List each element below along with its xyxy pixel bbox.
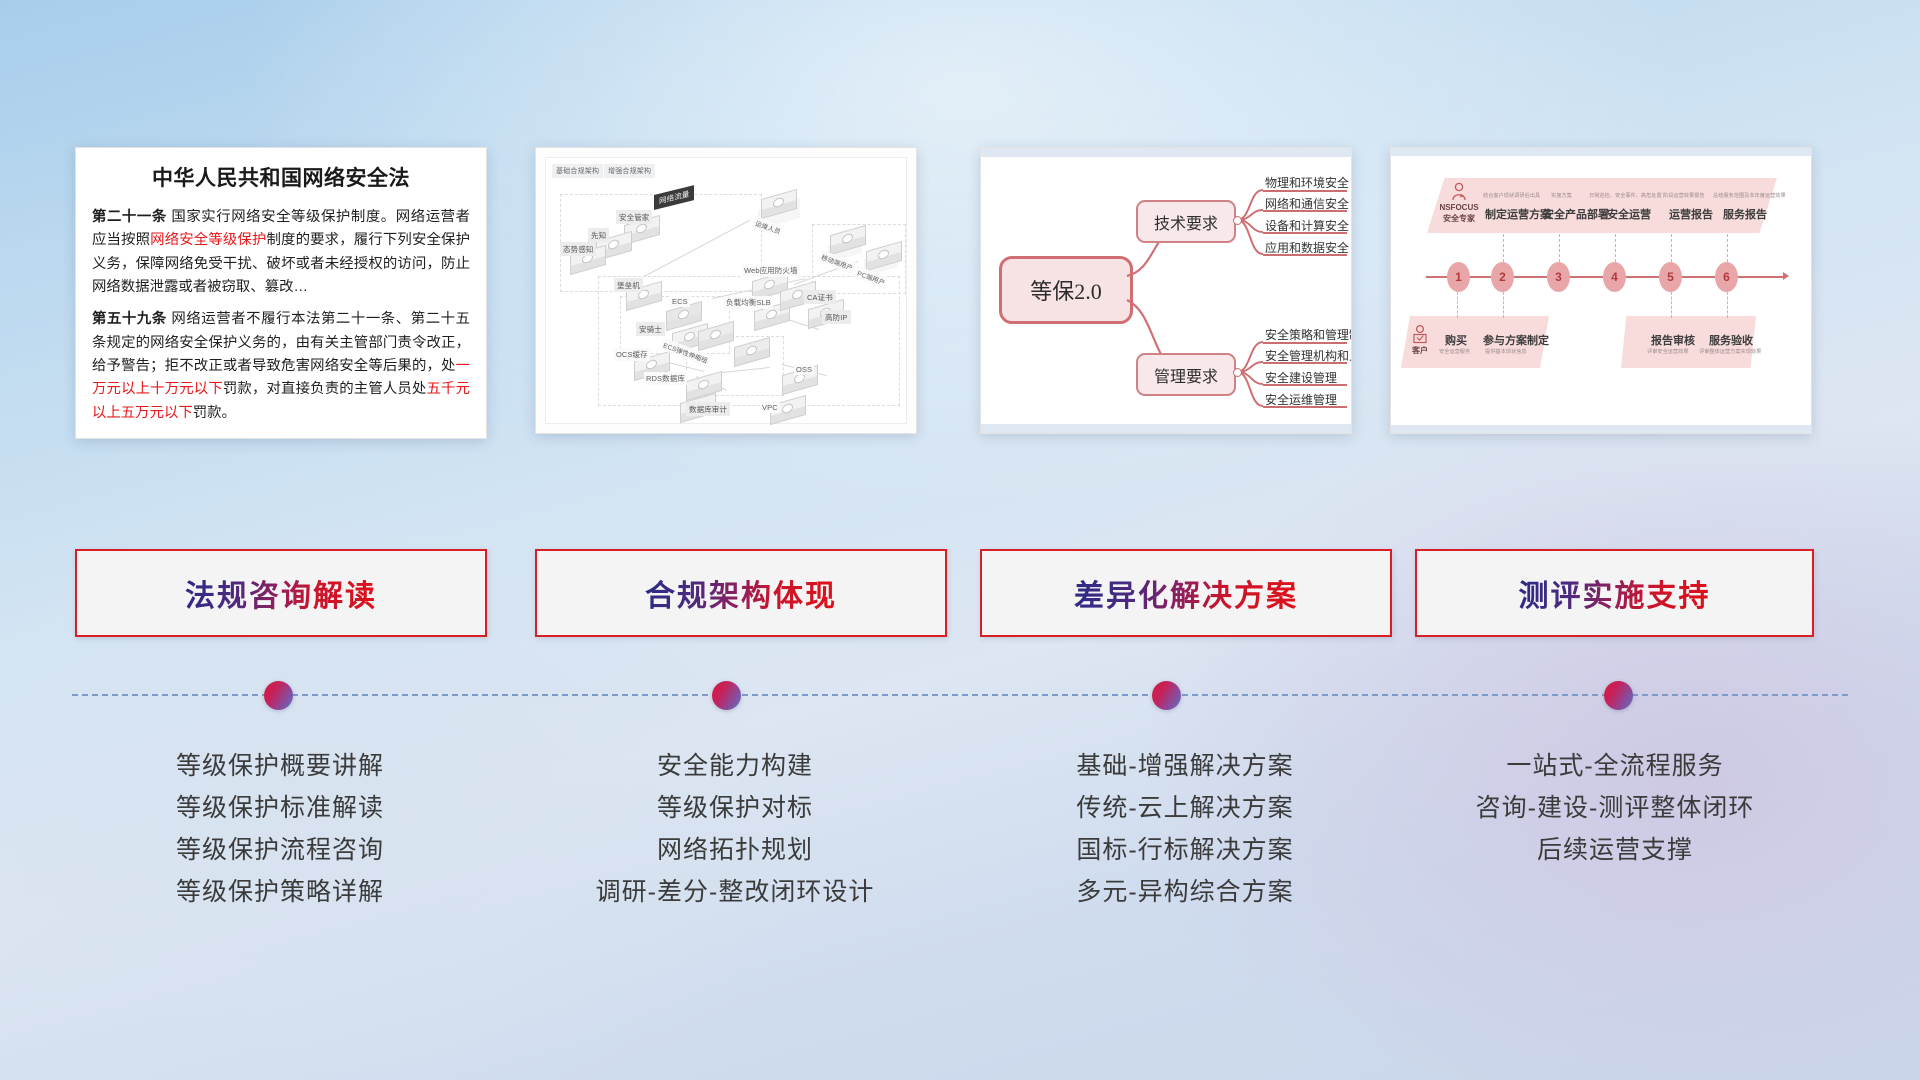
step-marker-5[interactable]: 5 [1659, 262, 1682, 292]
law-title: 中华人民共和国网络安全法 [92, 162, 470, 192]
article-59-tail: 罚款。 [193, 405, 236, 421]
label-waf: Web应用防火墙 [742, 264, 800, 277]
process-top-band [1391, 148, 1811, 156]
list-item: 多元-异构综合方案 [975, 871, 1395, 913]
bottom-step-1-title: 购买 [1445, 332, 1467, 348]
article-59-number: 第五十九条 [92, 311, 167, 327]
service-process-diagram: NSFOCUS 安全专家 客户 1 2 3 4 5 6 [1391, 148, 1811, 433]
slide-canvas: 中华人民共和国网络安全法 第二十一条 国家实行网络安全等级保护制度。网络运营者应… [0, 0, 1920, 1080]
cloud-architecture-card: 基础合规架构 增强合规架构 [535, 147, 917, 434]
law-text-card: 中华人民共和国网络安全法 第二十一条 国家实行网络安全等级保护制度。网络运营者应… [75, 147, 487, 439]
section-items-4: 一站式-全流程服务 咨询-建设-测评整体闭环 后续运营支撑 [1410, 745, 1820, 871]
article-21-highlight: 网络安全等级保护 [150, 232, 266, 248]
law-article-59: 第五十九条 网络运营者不履行本法第二十一条、第二十五条规定的网络安全保护义务的，… [92, 308, 470, 425]
label-security-butler: 安全管家 [616, 210, 652, 224]
section-title-box-3[interactable]: 差异化解决方案 [980, 549, 1392, 637]
bottom-step-1-sub: 安全运营服务 [1439, 348, 1470, 355]
top-step-2-title: 安全产品部署 [1543, 206, 1609, 222]
label-oss: OSS [794, 364, 814, 375]
expert-person-icon [1449, 182, 1469, 202]
step-marker-6[interactable]: 6 [1715, 262, 1738, 292]
list-item: 等级保护对标 [525, 787, 945, 829]
section-title-box-4[interactable]: 测评实施支持 [1415, 549, 1814, 637]
top-step-5-sub: 总结服务范围及本年度运营效果 [1713, 192, 1786, 199]
dengbao-mindmap-card: 等保2.0 技术要求 管理要求 物理和环境安全 网络和通信安全 设备 [980, 147, 1352, 434]
list-item: 基础-增强解决方案 [975, 745, 1395, 787]
list-item: 咨询-建设-测评整体闭环 [1410, 787, 1820, 829]
mindmap-root-node: 等保2.0 [999, 256, 1133, 324]
article-21-number: 第二十一条 [92, 209, 167, 225]
step-marker-2[interactable]: 2 [1491, 262, 1514, 292]
step-marker-1[interactable]: 1 [1447, 262, 1470, 292]
label-anqishi: 安骑士 [636, 322, 665, 336]
list-item: 等级保护策略详解 [75, 871, 485, 913]
process-axis-arrow-icon [1783, 272, 1789, 280]
bottom-step-3-title: 报告审核 [1651, 332, 1695, 348]
label-ca-cert: CA证书 [804, 290, 836, 304]
mindmap-collapse-icon-management[interactable] [1233, 368, 1242, 377]
mindmap-leaf-policy-system: 安全策略和管理制度 [1265, 326, 1352, 343]
mindmap-top-band [981, 148, 1351, 157]
mindmap-branch-management: 管理要求 [1136, 353, 1236, 396]
step-marker-3[interactable]: 3 [1547, 262, 1570, 292]
label-slb: 负载均衡SLB [724, 296, 773, 309]
section-title-3: 差异化解决方案 [1074, 571, 1298, 615]
bottom-step-2-title: 参与方案制定 [1483, 332, 1549, 348]
section-title-1: 法规咨询解读 [185, 571, 377, 615]
tab-enhanced-compliance[interactable]: 增强合规架构 [604, 164, 655, 178]
bottom-step-3-sub: 评审安全运营效果 [1647, 348, 1689, 355]
law-text-body: 中华人民共和国网络安全法 第二十一条 国家实行网络安全等级保护制度。网络运营者应… [76, 148, 486, 439]
section-title-2: 合规架构体现 [645, 571, 837, 615]
timeline-dot-1[interactable] [264, 681, 293, 710]
architecture-frame: 基础合规架构 增强合规架构 [545, 157, 907, 424]
step-marker-4[interactable]: 4 [1603, 262, 1626, 292]
architecture-diagram: 基础合规架构 增强合规架构 [536, 148, 916, 433]
list-item: 等级保护流程咨询 [75, 829, 485, 871]
section-title-4: 测评实施支持 [1519, 571, 1711, 615]
customer-role-label: 客户 [1407, 346, 1433, 356]
bottom-step-4-title: 服务验收 [1709, 332, 1753, 348]
label-bastion-host: 堡垒机 [614, 278, 643, 292]
list-item: 等级保护标准解读 [75, 787, 485, 829]
mindmap-leaf-physical-env: 物理和环境安全 [1265, 174, 1349, 191]
top-step-1-sub: 结合客户现状调研后出具 [1483, 192, 1540, 199]
label-anti-ddos-ip: 高防IP [822, 310, 851, 324]
timeline-dot-2[interactable] [712, 681, 741, 710]
timeline-dot-4[interactable] [1604, 681, 1633, 710]
list-item: 一站式-全流程服务 [1410, 745, 1820, 787]
top-step-1-title: 制定运营方案 [1485, 206, 1551, 222]
mindmap-collapse-icon-technical[interactable] [1233, 216, 1242, 225]
section-title-box-2[interactable]: 合规架构体现 [535, 549, 947, 637]
top-step-4-title: 运营报告 [1669, 206, 1713, 222]
section-items-1: 等级保护概要讲解 等级保护标准解读 等级保护流程咨询 等级保护策略详解 [75, 745, 485, 913]
bottom-step-2-sub: 提供基本现状信息 [1485, 348, 1527, 355]
label-rds-database: RDS数据库 [644, 372, 687, 385]
service-process-card: NSFOCUS 安全专家 客户 1 2 3 4 5 6 [1390, 147, 1812, 434]
customer-person-icon [1411, 324, 1429, 344]
mindmap-bottom-band [981, 424, 1351, 433]
expert-role-label-line1: NSFOCUS [1433, 203, 1485, 213]
label-situation-aware: 态势感知 [560, 242, 596, 256]
label-ecs: ECS [670, 296, 690, 307]
mindmap-branch-technical: 技术要求 [1136, 200, 1236, 243]
label-xianzhi: 先知 [588, 228, 609, 242]
timeline-dashed-line [72, 694, 1848, 696]
expert-role-label-line2: 安全专家 [1433, 214, 1485, 224]
top-step-3-title: 安全运营 [1607, 206, 1651, 222]
tab-basic-compliance[interactable]: 基础合规架构 [552, 164, 603, 178]
list-item: 安全能力构建 [525, 745, 945, 787]
top-step-3-sub: 日常巡检、安全事件、高危处置 [1589, 192, 1662, 199]
list-item: 等级保护概要讲解 [75, 745, 485, 787]
list-item: 传统-云上解决方案 [975, 787, 1395, 829]
top-step-4-sub: 阶段运营效果报告 [1663, 192, 1705, 199]
section-items-3: 基础-增强解决方案 传统-云上解决方案 国标-行标解决方案 多元-异构综合方案 [975, 745, 1395, 913]
article-59-mid: 罚款，对直接负责的主管人员处 [223, 381, 427, 397]
label-vpc: VPC [760, 402, 780, 413]
label-ocs-cache: OCS缓存 [614, 348, 650, 361]
top-step-2-sub: 实施方案 [1551, 192, 1572, 199]
law-article-21: 第二十一条 国家实行网络安全等级保护制度。网络运营者应当按照网络安全等级保护制度… [92, 206, 470, 299]
mindmap: 等保2.0 技术要求 管理要求 物理和环境安全 网络和通信安全 设备 [981, 148, 1351, 433]
top-step-5-title: 服务报告 [1723, 206, 1767, 222]
bottom-step-4-sub: 评审整体运营方案实现效果 [1699, 348, 1761, 355]
section-title-box-1[interactable]: 法规咨询解读 [75, 549, 487, 637]
list-item: 国标-行标解决方案 [975, 829, 1395, 871]
section-items-2: 安全能力构建 等级保护对标 网络拓扑规划 调研-差分-整改闭环设计 [525, 745, 945, 913]
list-item: 后续运营支撑 [1410, 829, 1820, 871]
timeline-dot-3[interactable] [1152, 681, 1181, 710]
process-bottom-band [1391, 425, 1811, 433]
list-item: 网络拓扑规划 [525, 829, 945, 871]
label-db-audit: 数据库审计 [686, 402, 730, 416]
list-item: 调研-差分-整改闭环设计 [525, 871, 945, 913]
